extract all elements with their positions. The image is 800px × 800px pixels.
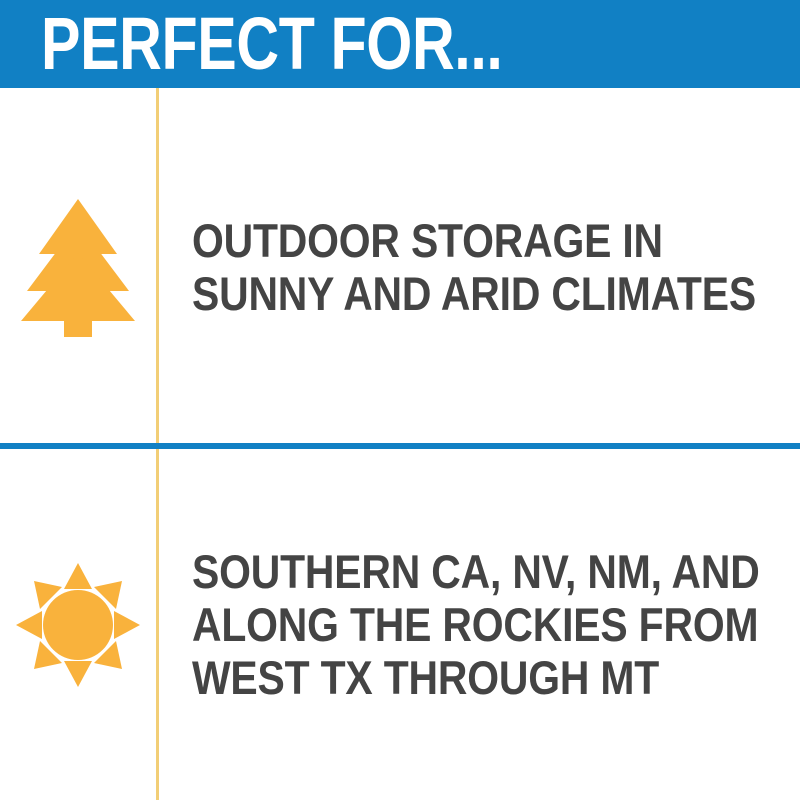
headline-line: SUNNY AND ARID CLIMATES <box>192 267 756 320</box>
feature-headline-outdoor-storage: OUTDOOR STORAGE IN SUNNY AND ARID CLIMAT… <box>192 214 756 320</box>
pine-tree-icon <box>21 197 135 337</box>
feature-row-regions: SOUTHERN CA, NV, NM, AND ALONG THE ROCKI… <box>0 449 800 800</box>
feature-headline-regions: SOUTHERN CA, NV, NM, AND ALONG THE ROCKI… <box>192 545 760 704</box>
text-cell-regions: SOUTHERN CA, NV, NM, AND ALONG THE ROCKI… <box>156 545 800 704</box>
header-band: PERFECT FOR... <box>0 0 800 88</box>
text-cell-outdoor-storage: OUTDOOR STORAGE IN SUNNY AND ARID CLIMAT… <box>156 214 800 320</box>
headline-line: SOUTHERN CA, NV, NM, AND <box>192 545 760 598</box>
perfect-for-infographic: PERFECT FOR... OUTDOOR STORAGE IN SUNNY … <box>0 0 800 800</box>
feature-row-outdoor-storage: OUTDOOR STORAGE IN SUNNY AND ARID CLIMAT… <box>0 90 800 443</box>
headline-line: WEST TX THROUGH MT <box>192 651 760 704</box>
headline-line: OUTDOOR STORAGE IN <box>192 214 756 267</box>
sun-icon <box>16 563 140 687</box>
page-title: PERFECT FOR... <box>41 4 502 84</box>
icon-cell-sun <box>0 449 156 800</box>
icon-cell-tree <box>0 90 156 443</box>
headline-line: ALONG THE ROCKIES FROM <box>192 598 760 651</box>
